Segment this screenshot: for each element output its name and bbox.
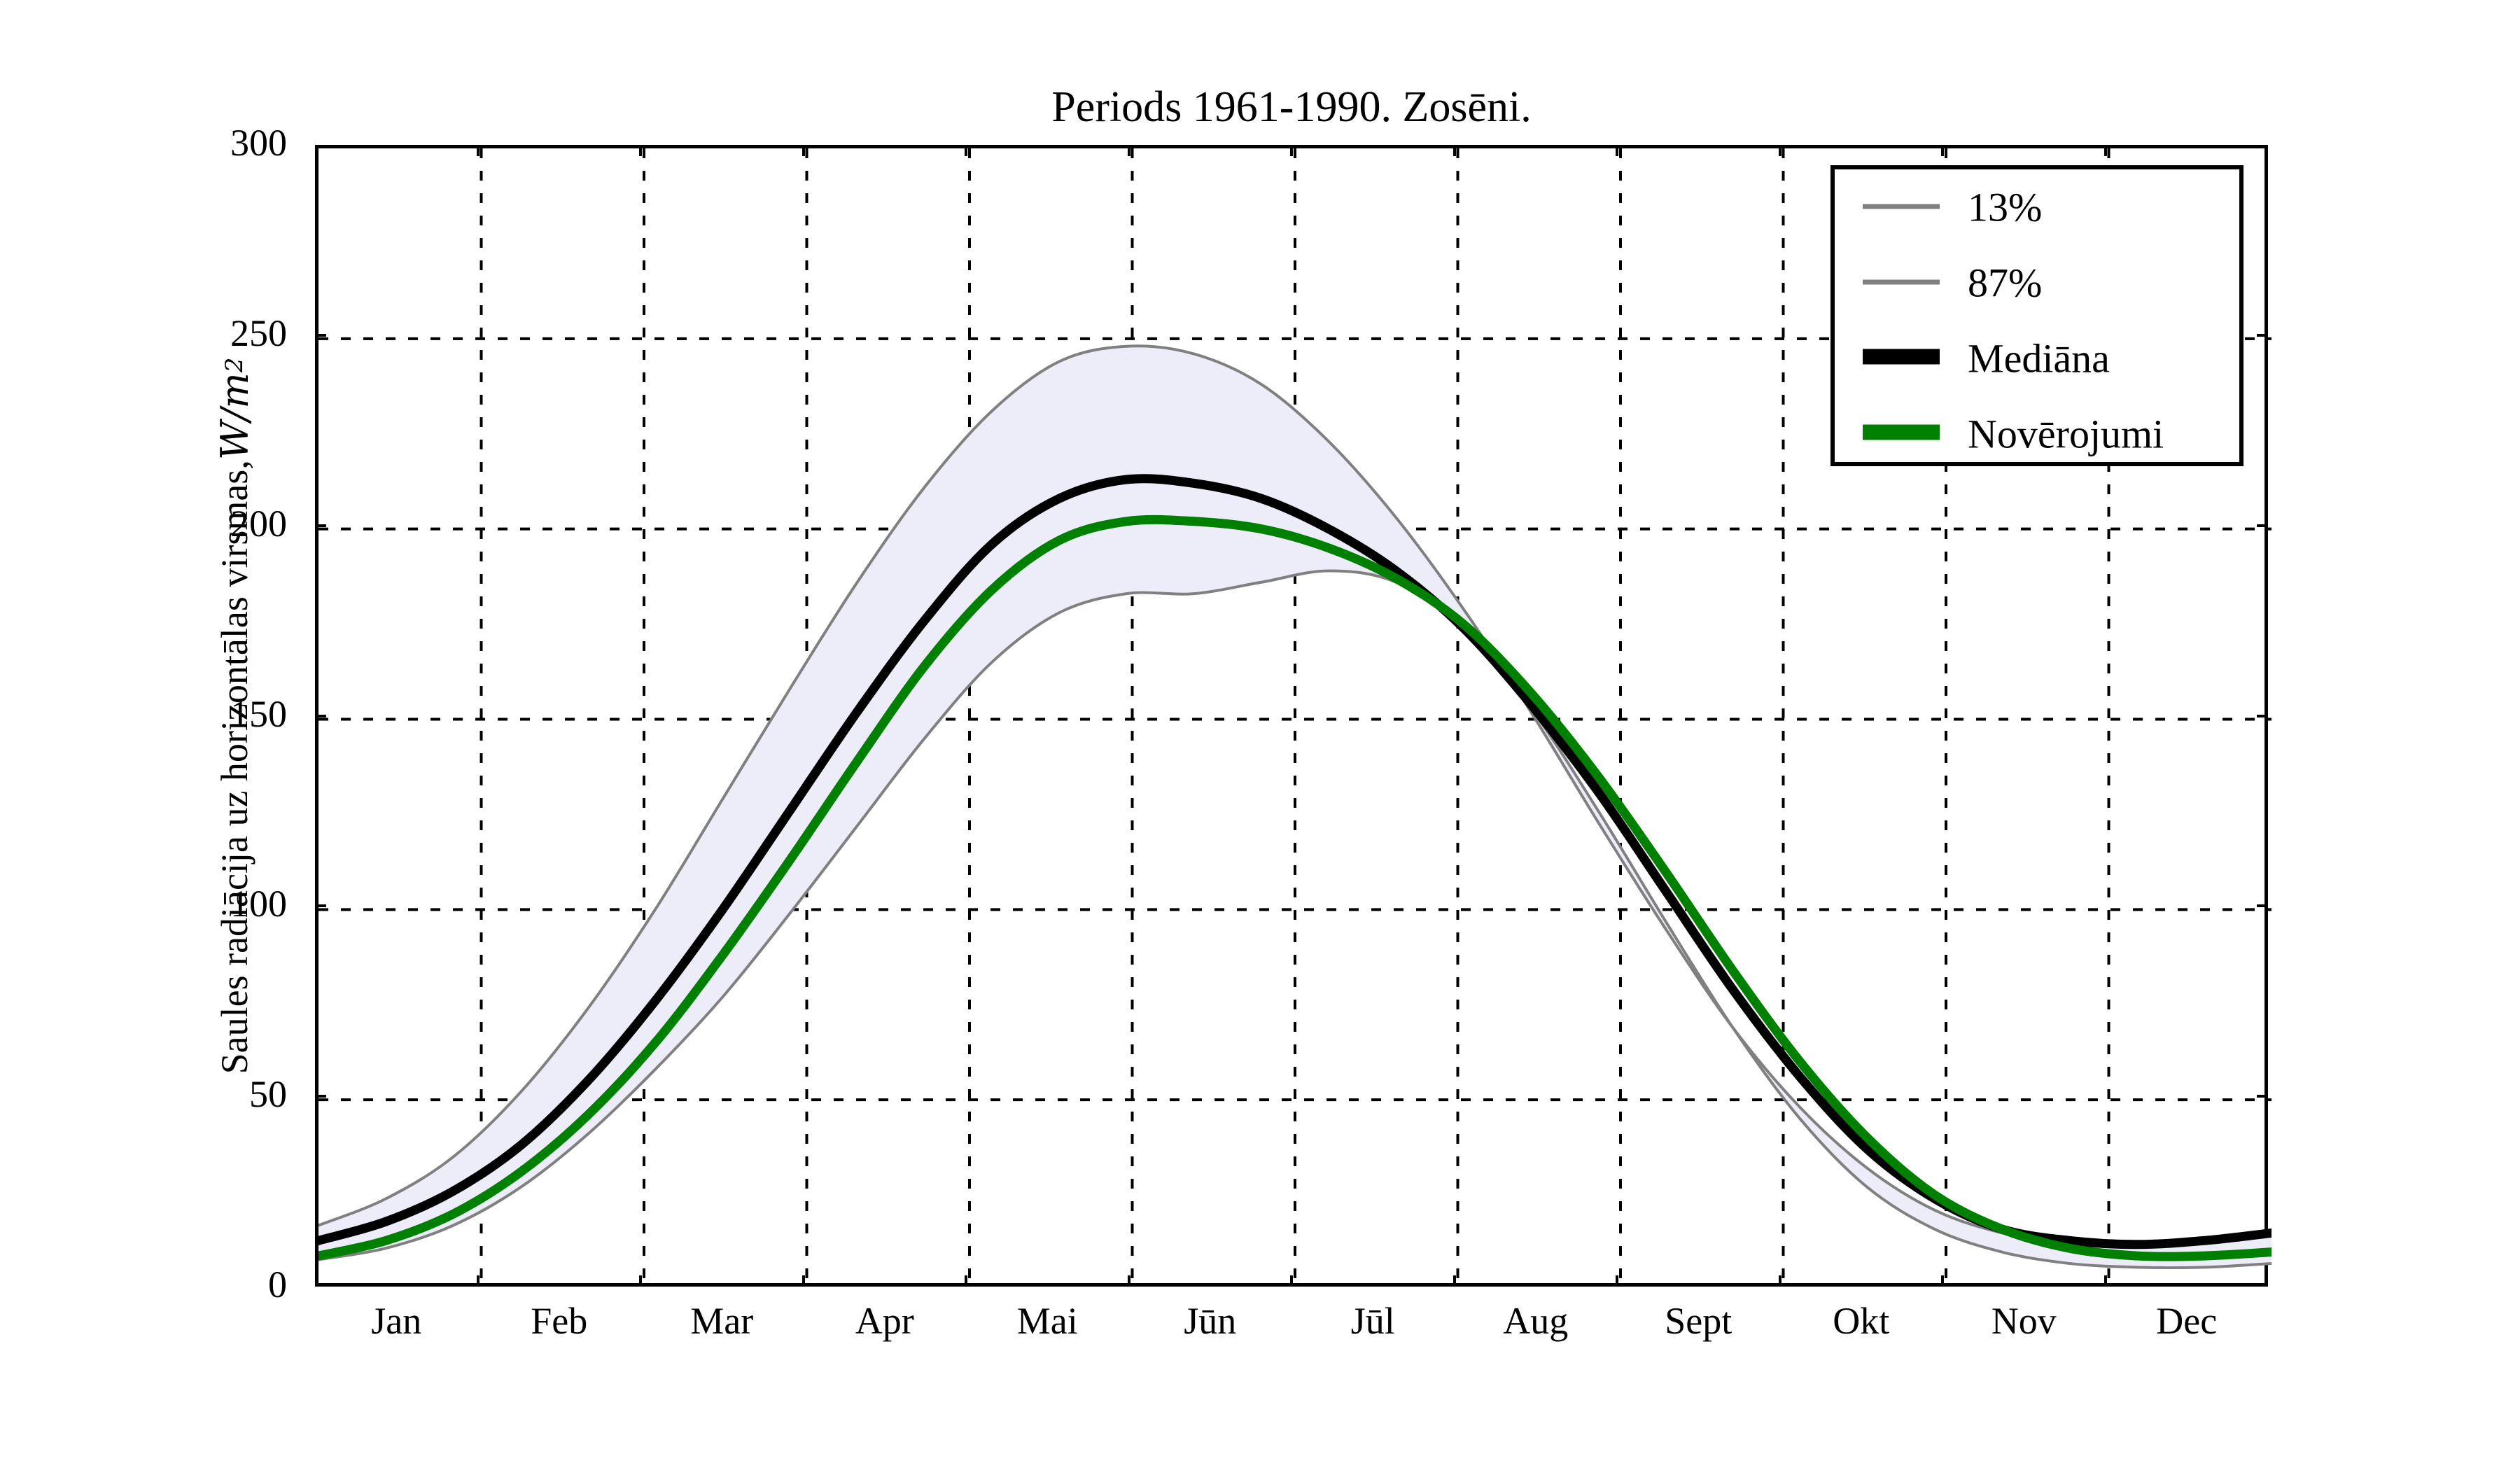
y-axis-tick-mark xyxy=(315,524,326,527)
x-axis-tick-mark xyxy=(639,1275,642,1287)
x-axis-tick-mark xyxy=(802,1275,805,1287)
y-axis-tick-mark xyxy=(315,334,326,337)
y-axis-tick-label: 100 xyxy=(126,885,287,923)
y-axis-units: W/m xyxy=(213,372,257,460)
y-axis-tick-mark xyxy=(2257,524,2268,527)
x-axis-tick-mark xyxy=(1616,145,1618,156)
y-axis-tick-mark xyxy=(2257,334,2268,337)
x-axis-tick-mark xyxy=(639,145,642,156)
x-axis-tick-label: Dec xyxy=(2082,1302,2292,1340)
x-axis-tick-mark xyxy=(1453,1275,1456,1287)
x-axis-tick-mark xyxy=(2104,145,2107,156)
x-axis-tick-mark xyxy=(1779,145,1781,156)
y-axis-tick-label: 150 xyxy=(126,695,287,733)
legend-entry-observations[interactable]: Novērojumi xyxy=(1835,396,2239,472)
legend-label-87: 87% xyxy=(1968,260,2042,307)
y-axis-tick-mark xyxy=(315,904,326,907)
y-axis-tick-mark xyxy=(315,715,326,717)
x-axis-tick-mark xyxy=(1290,145,1293,156)
y-axis-tick-mark xyxy=(315,1095,326,1098)
legend-swatch-observations-icon xyxy=(1863,423,1940,445)
x-axis-tick-mark xyxy=(1128,1275,1130,1287)
legend-entry-87[interactable]: 87% xyxy=(1835,245,2239,321)
legend-swatch-median-icon xyxy=(1863,348,1940,370)
y-axis-tick-mark xyxy=(2257,715,2268,717)
x-axis-tick-mark xyxy=(965,1275,967,1287)
x-axis-tick-mark xyxy=(1128,145,1130,156)
x-axis-tick-mark xyxy=(2104,1275,2107,1287)
legend-entry-median[interactable]: Mediāna xyxy=(1835,321,2239,396)
x-axis-tick-mark xyxy=(477,1275,479,1287)
y-axis-tick-label: 50 xyxy=(126,1075,287,1113)
legend-entry-13[interactable]: 13% xyxy=(1835,169,2239,245)
x-axis-tick-mark xyxy=(802,145,805,156)
y-axis-tick-mark xyxy=(2257,904,2268,907)
x-axis-tick-mark xyxy=(1941,145,1944,156)
legend-swatch-87-icon xyxy=(1863,276,1940,289)
chart-title: Periods 1961-1990. Zosēni. xyxy=(315,83,2268,132)
x-axis-tick-mark xyxy=(477,145,479,156)
x-axis-tick-mark xyxy=(1941,1275,1944,1287)
chart-legend[interactable]: 13% 87% Mediāna Novērojumi xyxy=(1830,165,2243,466)
x-axis-tick-mark xyxy=(1290,1275,1293,1287)
legend-label-13: 13% xyxy=(1968,184,2042,231)
x-axis-tick-mark xyxy=(1779,1275,1781,1287)
y-axis-tick-label: 200 xyxy=(126,505,287,542)
y-axis-tick-label: 250 xyxy=(126,314,287,352)
legend-label-median: Mediāna xyxy=(1968,335,2110,382)
y-axis-tick-mark xyxy=(2257,1095,2268,1098)
chart-root: { "chart_data": { "type": "line", "title… xyxy=(0,0,2520,1470)
y-axis-units-exponent: 2 xyxy=(220,358,248,373)
y-axis-tick-label: 300 xyxy=(126,124,287,162)
series-line-medi-na xyxy=(318,479,2271,1245)
y-axis-label-text: Saules radiācija uz horizontālas virsmas… xyxy=(213,460,256,1074)
x-axis-tick-mark xyxy=(965,145,967,156)
legend-swatch-13-icon xyxy=(1863,201,1940,213)
x-axis-tick-mark xyxy=(1453,145,1456,156)
legend-label-observations: Novērojumi xyxy=(1968,411,2164,458)
x-axis-tick-mark xyxy=(1616,1275,1618,1287)
y-axis-tick-label: 0 xyxy=(126,1266,287,1303)
